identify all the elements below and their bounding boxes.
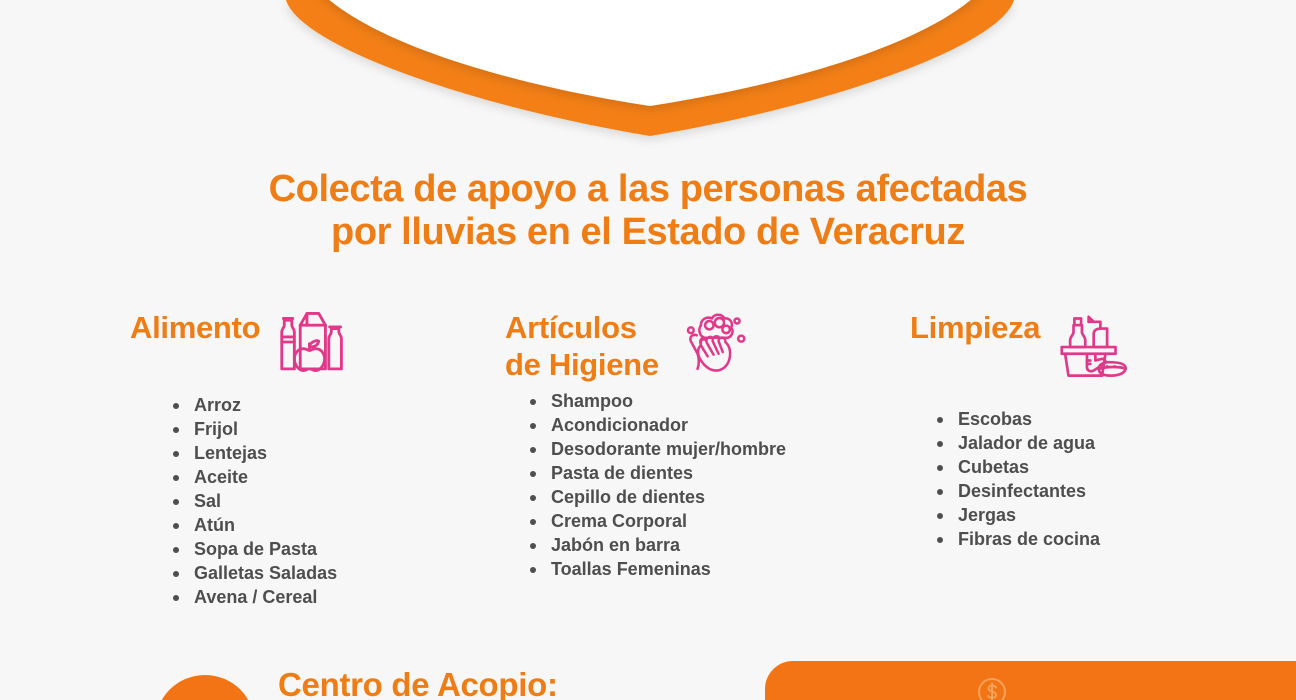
orange-chevron-shape bbox=[286, 0, 1014, 136]
page-title: Colecta de apoyo a las personas afectada… bbox=[0, 168, 1296, 253]
list-item: Shampoo bbox=[527, 390, 865, 414]
category-header-limpieza: Limpieza bbox=[910, 300, 1230, 384]
list-item: Galletas Saladas bbox=[170, 562, 460, 586]
list-item: Escobas bbox=[934, 408, 1230, 432]
title-line-1: Colecta de apoyo a las personas afectada… bbox=[0, 168, 1296, 211]
list-item: Toallas Femeninas bbox=[527, 558, 865, 582]
centro-acopio-label: Centro de Acopio: bbox=[278, 666, 558, 700]
groceries-icon bbox=[270, 300, 354, 384]
category-column-limpieza: Limpieza bbox=[910, 300, 1230, 552]
list-item: Atún bbox=[170, 514, 460, 538]
list-item: Fibras de cocina bbox=[934, 528, 1230, 552]
list-item: Sopa de Pasta bbox=[170, 538, 460, 562]
list-item: Crema Corporal bbox=[527, 510, 865, 534]
item-list-alimento: Arroz Frijol Lentejas Aceite Sal Atún So… bbox=[170, 394, 460, 609]
list-item: Desinfectantes bbox=[934, 480, 1230, 504]
list-item: Cepillo de dientes bbox=[527, 486, 865, 510]
category-title-higiene: Artículos de Higiene bbox=[505, 300, 659, 383]
top-banner-decoration bbox=[0, 0, 1296, 160]
list-item: Jergas bbox=[934, 504, 1230, 528]
white-arch-shape bbox=[294, 0, 1006, 106]
list-item: Aceite bbox=[170, 466, 460, 490]
list-item: Lentejas bbox=[170, 442, 460, 466]
dollar-coin-icon bbox=[975, 675, 1009, 700]
category-title-limpieza: Limpieza bbox=[910, 300, 1040, 347]
donation-banner[interactable] bbox=[765, 661, 1296, 700]
list-item: Sal bbox=[170, 490, 460, 514]
list-item: Arroz bbox=[170, 394, 460, 418]
category-column-alimento: Alimento bbox=[130, 300, 460, 609]
list-item: Pasta de dientes bbox=[527, 462, 865, 486]
list-item: Jalador de agua bbox=[934, 432, 1230, 456]
cleaning-supplies-icon bbox=[1050, 300, 1134, 384]
list-item: Frijol bbox=[170, 418, 460, 442]
handwashing-icon bbox=[669, 300, 753, 384]
list-item: Jabón en barra bbox=[527, 534, 865, 558]
item-list-limpieza: Escobas Jalador de agua Cubetas Desinfec… bbox=[934, 408, 1230, 552]
list-item: Cubetas bbox=[934, 456, 1230, 480]
category-columns: Alimento bbox=[0, 300, 1296, 630]
title-line-2: por lluvias en el Estado de Veracruz bbox=[0, 211, 1296, 254]
list-item: Avena / Cereal bbox=[170, 586, 460, 610]
category-column-higiene: Artículos de Higiene bbox=[505, 300, 865, 582]
centro-acopio-circle-marker bbox=[155, 675, 255, 700]
category-header-higiene: Artículos de Higiene bbox=[505, 300, 865, 384]
category-header-alimento: Alimento bbox=[130, 300, 460, 384]
list-item: Desodorante mujer/hombre bbox=[527, 438, 865, 462]
item-list-higiene: Shampoo Acondicionador Desodorante mujer… bbox=[527, 390, 865, 582]
list-item: Acondicionador bbox=[527, 414, 865, 438]
category-title-alimento: Alimento bbox=[130, 300, 260, 347]
